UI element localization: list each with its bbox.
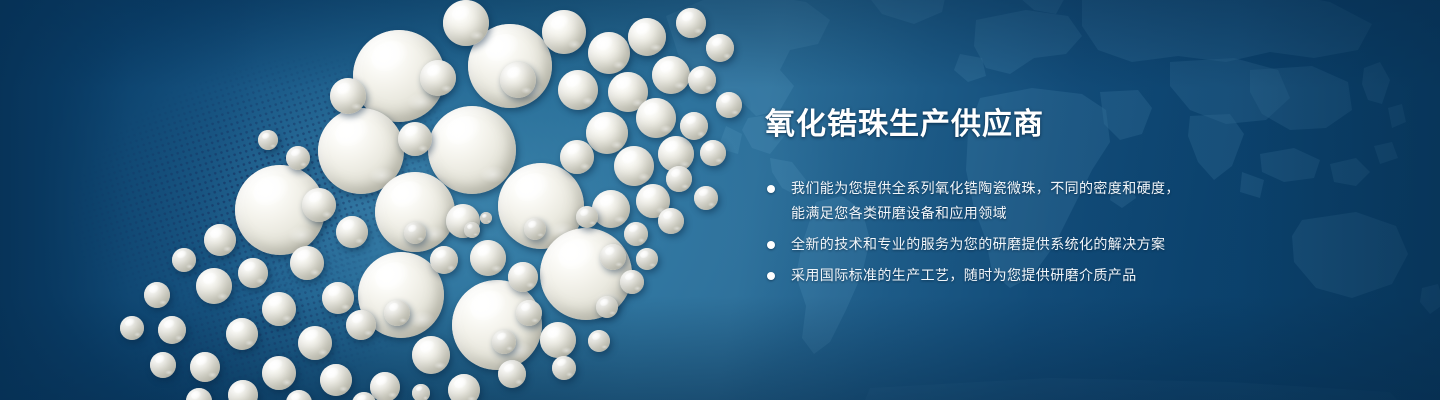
list-item: 我们能为您提供全系列氧化锆陶瓷微珠，不同的密度和硬度， 能满足您各类研磨设备和应…: [765, 176, 1385, 226]
list-item-line: 全新的技术和专业的服务为您的研磨提供系统化的解决方案: [791, 232, 1385, 257]
list-item: 全新的技术和专业的服务为您的研磨提供系统化的解决方案: [765, 232, 1385, 257]
feature-list: 我们能为您提供全系列氧化锆陶瓷微珠，不同的密度和硬度， 能满足您各类研磨设备和应…: [765, 176, 1385, 288]
hero-banner: 氧化锆珠生产供应商 我们能为您提供全系列氧化锆陶瓷微珠，不同的密度和硬度， 能满…: [0, 0, 1440, 400]
bullet-dot-icon: [767, 272, 775, 280]
list-item: 采用国际标准的生产工艺，随时为您提供研磨介质产品: [765, 263, 1385, 288]
list-item-line: 采用国际标准的生产工艺，随时为您提供研磨介质产品: [791, 263, 1385, 288]
bullet-dot-icon: [767, 185, 775, 193]
page-title: 氧化锆珠生产供应商: [765, 108, 1385, 142]
list-item-line: 能满足您各类研磨设备和应用领域: [791, 201, 1385, 226]
bullet-dot-icon: [767, 241, 775, 249]
list-item-line: 我们能为您提供全系列氧化锆陶瓷微珠，不同的密度和硬度，: [791, 176, 1385, 201]
banner-copy: 氧化锆珠生产供应商 我们能为您提供全系列氧化锆陶瓷微珠，不同的密度和硬度， 能满…: [765, 108, 1385, 294]
